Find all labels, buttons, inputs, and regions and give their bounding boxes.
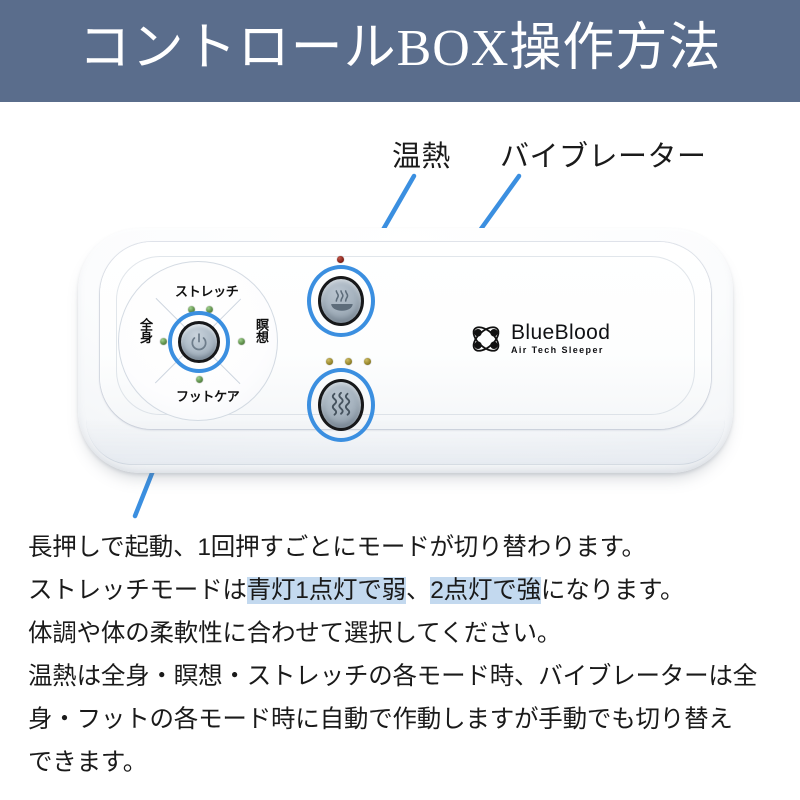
power-button[interactable] xyxy=(178,321,220,363)
callout-label-heat: 温熱 xyxy=(392,133,451,175)
vibration-waves-icon xyxy=(327,390,355,420)
dial-label-full-body: 全身 xyxy=(136,318,155,343)
instruction-line-1: 長押しで起動、1回押すごとにモードが切り替わります。 xyxy=(28,526,780,569)
header-banner: コントロールBOX操作方法 xyxy=(0,0,800,102)
brand-name: BlueBlood xyxy=(511,322,610,343)
line2-mid: 、 xyxy=(406,577,430,604)
heat-button[interactable] xyxy=(318,276,364,326)
brand-mark: BlueBlood Air Tech Sleeper xyxy=(468,322,610,355)
led-vibrator-2 xyxy=(345,358,352,365)
line2-highlight-weak: 青灯1点灯で弱 xyxy=(247,577,406,604)
page-title: コントロールBOX操作方法 xyxy=(79,23,722,79)
power-icon xyxy=(189,332,209,352)
dial-label-meditation: 瞑想 xyxy=(252,318,271,343)
led-vibrator-1 xyxy=(326,358,333,365)
dial-label-foot-care: フットケア xyxy=(176,386,240,405)
page-root: コントロールBOX操作方法 温熱 バイブレーター ストレッチ フットケア 全身 … xyxy=(0,0,800,800)
led-meditation xyxy=(238,338,245,345)
instruction-line-2: ストレッチモードは青灯1点灯で弱、2点灯で強になります。 xyxy=(28,569,780,612)
led-foot-care xyxy=(196,376,203,383)
instruction-line-6: できます。 xyxy=(28,741,780,784)
callout-label-vibrator: バイブレーター xyxy=(500,133,707,175)
instruction-line-5: 身・フットの各モード時に自動で作動しますが手動でも切り替え xyxy=(28,698,780,741)
device-bottom-lip xyxy=(86,419,725,465)
vibrator-button[interactable] xyxy=(318,379,364,431)
led-vibrator-3 xyxy=(364,358,371,365)
line2-pre: ストレッチモードは xyxy=(28,577,247,604)
led-full-body xyxy=(160,338,167,345)
instruction-line-3: 体調や体の柔軟性に合わせて選択してください。 xyxy=(28,612,780,655)
brand-tagline: Air Tech Sleeper xyxy=(511,346,610,355)
instruction-text: 長押しで起動、1回押すごとにモードが切り替わります。 ストレッチモードは青灯1点… xyxy=(28,526,780,784)
instruction-line-4: 温熱は全身・瞑想・ストレッチの各モード時、バイブレーターは全 xyxy=(28,655,780,698)
hot-spring-icon xyxy=(327,287,355,315)
led-heat xyxy=(337,256,344,263)
dial-label-stretch: ストレッチ xyxy=(175,281,239,300)
blueblood-knot-logo xyxy=(468,323,504,355)
line2-highlight-strong: 2点灯で強 xyxy=(430,577,541,604)
line2-post: になります。 xyxy=(541,577,684,604)
